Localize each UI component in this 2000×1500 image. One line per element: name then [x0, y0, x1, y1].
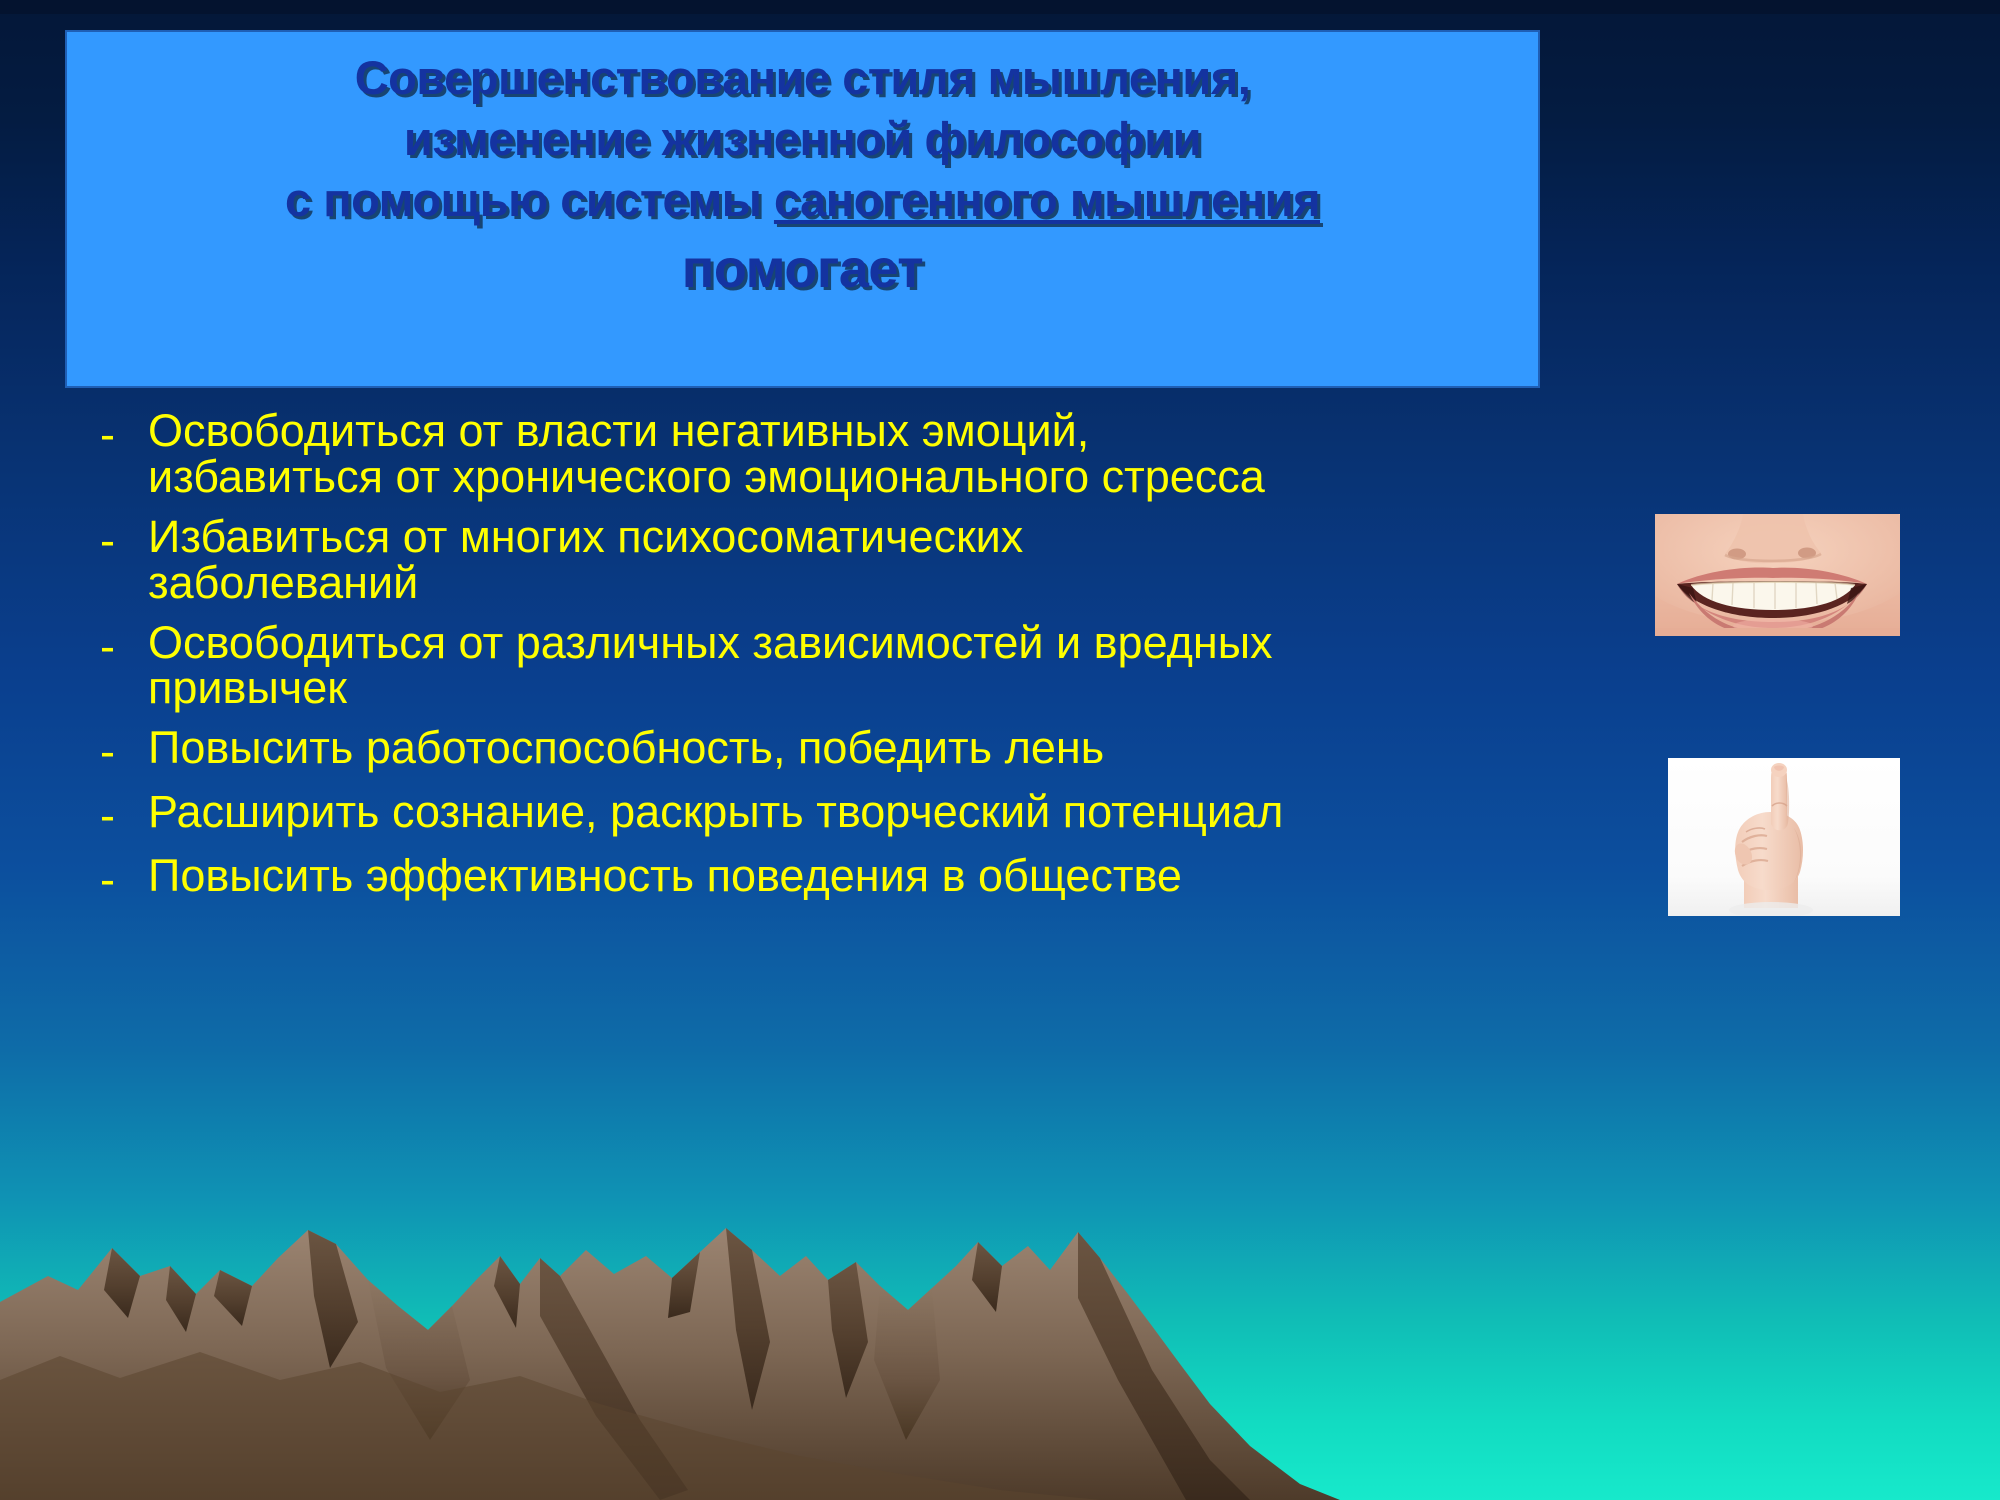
- presentation-slide: Совершенствование стиля мышления, измене…: [0, 0, 2000, 1500]
- mountain-landscape: [0, 1080, 2000, 1500]
- title-line-3-underlined-term: саногенного мышления: [774, 173, 1320, 226]
- bullet-dash-marker: -: [100, 514, 148, 564]
- title-line-2: изменение жизненной философии: [67, 115, 1538, 164]
- slide-top-edge: [0, 0, 2000, 14]
- title-line-1: Совершенствование стиля мышления,: [67, 54, 1538, 103]
- bullet-dash-marker: -: [100, 789, 148, 839]
- title-line-4-emphasis: помогает: [67, 241, 1538, 297]
- list-item: - Освободиться от власти негативных эмоц…: [100, 408, 1940, 500]
- bullet-dash-marker: -: [100, 620, 148, 670]
- title-line-3-prefix: с помощью системы: [285, 173, 774, 226]
- list-item: - Повысить работоспособность, победить л…: [100, 725, 1940, 775]
- bullet-dash-marker: -: [100, 853, 148, 903]
- pointing-hand-photo: [1668, 758, 1900, 916]
- list-item-text: Освободиться от власти негативных эмоций…: [148, 408, 1940, 500]
- list-item: - Расширить сознание, раскрыть творчески…: [100, 789, 1940, 839]
- bullet-dash-marker: -: [100, 725, 148, 775]
- title-panel: Совершенствование стиля мышления, измене…: [65, 30, 1540, 388]
- bullet-dash-marker: -: [100, 408, 148, 458]
- bullet-list: - Освободиться от власти негативных эмоц…: [100, 408, 1940, 917]
- list-item: - Повысить эффективность поведения в общ…: [100, 853, 1940, 903]
- title-line-3: с помощью системы саногенного мышления: [67, 176, 1538, 225]
- smiling-mouth-photo: [1655, 514, 1900, 636]
